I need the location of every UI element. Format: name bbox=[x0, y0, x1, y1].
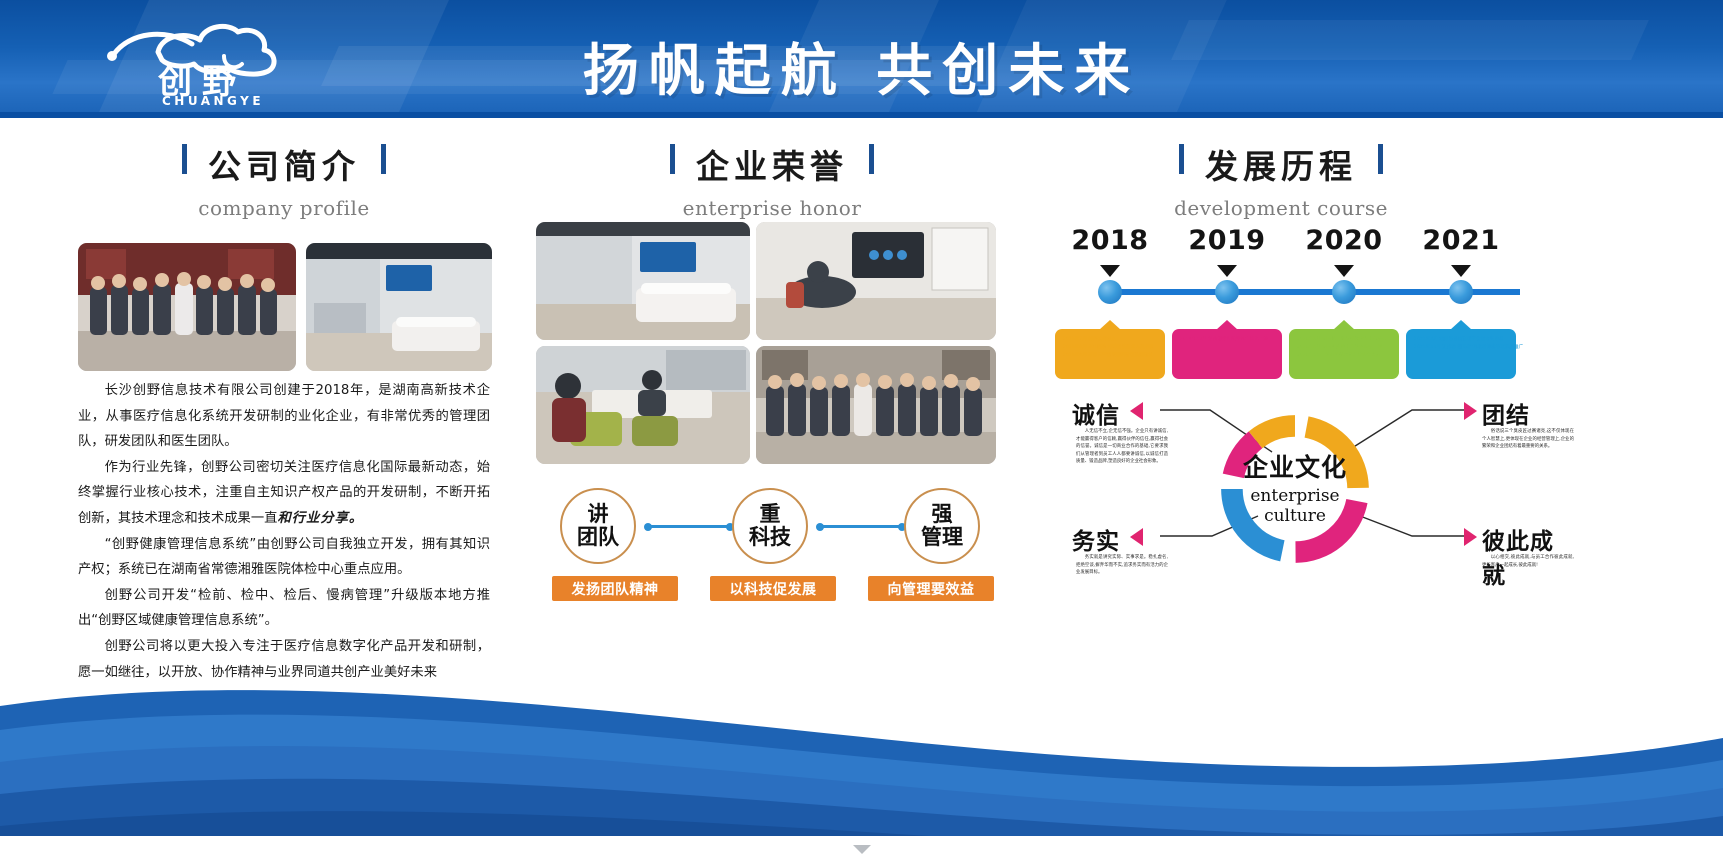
timeline-node bbox=[1449, 280, 1473, 304]
profile-paragraph: 长沙创野信息技术有限公司创建于2018年，是湖南高新技术企业，从事医疗信息化系统… bbox=[78, 378, 490, 455]
section-title-en: development course bbox=[1075, 196, 1487, 220]
principle-circle-tech: 重 科技 bbox=[732, 488, 808, 564]
honor-tag-management: 向管理要效益 bbox=[868, 576, 994, 601]
section-title-cn-wrap: 公司简介 bbox=[208, 140, 360, 188]
principle-line2: 科技 bbox=[749, 526, 791, 549]
honor-photo-reception bbox=[536, 222, 750, 340]
principle-line1: 重 bbox=[760, 503, 781, 526]
timeline-year-2019: 2019 bbox=[1172, 225, 1282, 256]
timeline-caret-icon bbox=[1451, 265, 1471, 277]
title-bar-left-icon bbox=[670, 144, 675, 174]
profile-paragraph-with-handwriting: 作为行业先锋，创野公司密切关注医疗信息化国际最新动态，始终掌握行业核心技术，注重… bbox=[78, 455, 490, 532]
title-bar-right-icon bbox=[869, 144, 874, 174]
header-bottom-rule bbox=[0, 112, 1723, 118]
section-heading-honor: 企业荣誉 enterprise honor bbox=[566, 140, 978, 220]
timeline-entry: 2021年6月 湖南省健康管理学会副会长单位 bbox=[1414, 336, 1509, 344]
footer-wave-decor bbox=[0, 610, 1723, 860]
culture-value-title-integrity: 诚信 bbox=[1072, 396, 1120, 430]
culture-center-label: 企业文化 enterprise culture bbox=[1212, 448, 1378, 526]
timeline-year-2021: 2021 bbox=[1406, 225, 1516, 256]
timeline-node bbox=[1098, 280, 1122, 304]
culture-arrow-right-icon bbox=[1464, 528, 1477, 546]
timeline-box-2021: 2021年6月 湖南省健康管理学会副会长单位 2021年11月 江苏省 湖南省 … bbox=[1406, 329, 1516, 379]
honor-photo-workspace bbox=[536, 346, 750, 464]
section-title-cn-wrap: 发展历程 bbox=[1205, 140, 1357, 188]
timeline-box-2019: 2019年10月 湖南湘雅医院整体信息化上线 bbox=[1172, 329, 1282, 379]
principle-connector bbox=[648, 525, 730, 528]
principle-line1: 讲 bbox=[588, 503, 609, 526]
profile-paragraph: “创野健康管理信息系统”由创野公司自我独立开发，拥有其知识产权；系统已在湖南省常… bbox=[78, 532, 490, 583]
title-bar-right-icon bbox=[1378, 144, 1383, 174]
culture-center-cn: 企业文化 bbox=[1212, 448, 1378, 484]
scroll-indicator-bar[interactable] bbox=[0, 836, 1723, 860]
principle-connector bbox=[820, 525, 902, 528]
section-title-cn: 企业荣誉 bbox=[696, 147, 848, 186]
section-title-en: enterprise honor bbox=[566, 196, 978, 220]
culture-value-title-unity: 团结 bbox=[1482, 396, 1530, 430]
section-title-cn: 发展历程 bbox=[1205, 147, 1357, 186]
culture-diagram: 企业文化 enterprise culture 诚信 人无信不立,企无信不强。企… bbox=[1060, 388, 1560, 598]
culture-center-en-line2: culture bbox=[1212, 506, 1378, 526]
principle-line1: 强 bbox=[932, 503, 953, 526]
principle-line2: 团队 bbox=[577, 526, 619, 549]
poster-header: 创野 CHUANGYE 扬帆起航 共创未来 bbox=[0, 0, 1723, 118]
honor-tag-team: 发扬团队精神 bbox=[552, 576, 678, 601]
timeline-entry: 2020年11月 湖南省健康管理院协会会员 bbox=[1297, 352, 1392, 360]
honor-photo-grid bbox=[536, 222, 996, 467]
section-title-cn-wrap: 企业荣誉 bbox=[696, 140, 848, 188]
handwritten-phrase: 和行业分享。 bbox=[277, 511, 363, 526]
profile-photo-lobby bbox=[306, 243, 492, 371]
timeline-box-2020: 2020年4月 湖南第一医院健康管理中心维保 2020年6月 湖南省疾控中心整体… bbox=[1289, 329, 1399, 379]
timeline-year-2020: 2020 bbox=[1289, 225, 1399, 256]
culture-arrow-left-icon bbox=[1130, 402, 1143, 420]
section-title-cn: 公司简介 bbox=[208, 147, 360, 186]
honor-photo-group bbox=[756, 346, 996, 464]
section-title-en: company profile bbox=[78, 196, 490, 220]
timeline-caret-icon bbox=[1100, 265, 1120, 277]
principle-circle-management: 强 管理 bbox=[904, 488, 980, 564]
timeline-year-2018: 2018 bbox=[1055, 225, 1165, 256]
timeline-node bbox=[1332, 280, 1356, 304]
timeline-box-2018: 2018年7月 创野公司创立 2018年8月 301医院 特聘医院技术人员培训 … bbox=[1055, 329, 1165, 379]
culture-value-body-pragmatism: 务实就是讲究实际、实事求是。稳扎虚名,拒绝空谈,摒弃华而不实,追求务实而有活力的… bbox=[1076, 554, 1168, 577]
culture-center-en-line1: enterprise bbox=[1212, 486, 1378, 506]
timeline-entry: 2020年6月 湖南省疾控中心整体系统上线 bbox=[1297, 344, 1392, 352]
culture-arrow-right-icon bbox=[1464, 402, 1477, 420]
title-bar-left-icon bbox=[182, 144, 187, 174]
poster-title: 扬帆起航 共创未来 bbox=[0, 26, 1723, 107]
culture-value-body-unity: 俗话说三个臭皮匠过赛诸亮,这不仅体现在个人智慧上,更体现在企业的经营管理上,企业… bbox=[1482, 428, 1574, 451]
timeline-node bbox=[1215, 280, 1239, 304]
section-heading-course: 发展历程 development course bbox=[1075, 140, 1487, 220]
principle-circle-team: 讲 团队 bbox=[560, 488, 636, 564]
title-bar-right-icon bbox=[381, 144, 386, 174]
culture-value-title-pragmatism: 务实 bbox=[1072, 522, 1120, 556]
honor-tag-row: 发扬团队精神 以科技促发展 向管理要效益 bbox=[552, 576, 992, 602]
timeline-entry: 2018年9月 市级三甲医院健康管理系统研发 bbox=[1063, 352, 1158, 360]
culture-arrow-left-icon bbox=[1130, 528, 1143, 546]
poster-canvas: 创野 CHUANGYE 扬帆起航 共创未来 公司简介 company profi… bbox=[0, 0, 1723, 860]
timeline-entry: 2018年7月 创野公司创立 bbox=[1063, 336, 1158, 344]
honor-principle-row: 讲 团队 重 科技 强 管理 bbox=[560, 488, 980, 566]
timeline-entry: 2020年4月 湖南第一医院健康管理中心维保 bbox=[1297, 336, 1392, 344]
timeline-entry: 2018年8月 301医院 特聘医院技术人员培训 bbox=[1063, 344, 1158, 352]
profile-photo-team bbox=[78, 243, 296, 371]
scroll-down-caret-icon[interactable] bbox=[853, 845, 871, 854]
culture-value-body-integrity: 人无信不立,企无信不强。企业只有讲诚信,才能赢得客户的信赖,赢得伙伴的信任,赢得… bbox=[1076, 428, 1168, 466]
timeline-caret-icon bbox=[1334, 265, 1354, 277]
development-timeline: 2018 2018年7月 创野公司创立 2018年8月 301医院 特聘医院技术… bbox=[1050, 225, 1540, 375]
title-bar-left-icon bbox=[1179, 144, 1184, 174]
honor-tag-tech: 以科技促发展 bbox=[710, 576, 836, 601]
principle-line2: 管理 bbox=[921, 526, 963, 549]
honor-photo-presentation bbox=[756, 222, 996, 340]
culture-value-body-mutual: 以心相交,彼此成就,与员工合作彼此成就,更与客户一起成长,彼此成就! bbox=[1482, 554, 1574, 569]
timeline-entry: 2021年11月 江苏省 湖南省 河北省健康管理系统推广 bbox=[1414, 344, 1509, 352]
timeline-entry: 2019年10月 湖南湘雅医院整体信息化上线 bbox=[1180, 336, 1275, 344]
section-heading-profile: 公司简介 company profile bbox=[78, 140, 490, 220]
timeline-caret-icon bbox=[1217, 265, 1237, 277]
